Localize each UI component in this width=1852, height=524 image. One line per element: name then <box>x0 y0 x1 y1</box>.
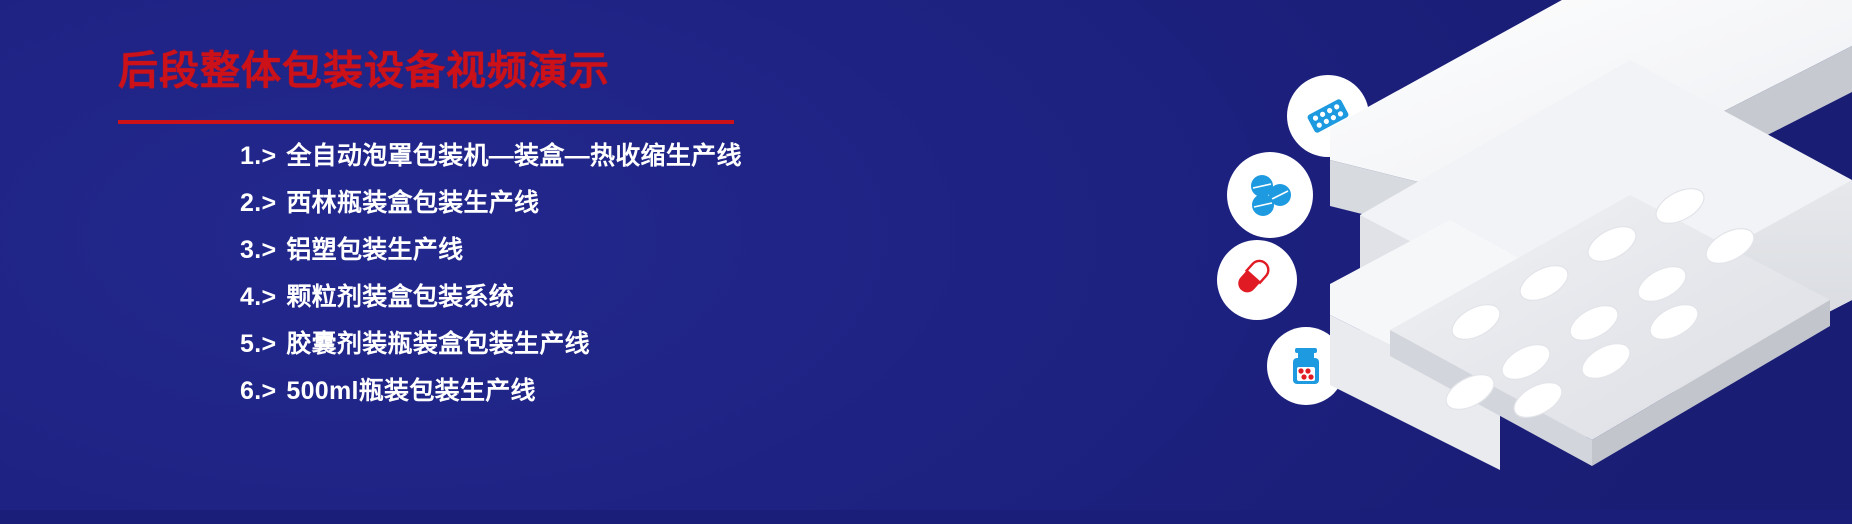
tablets-glyph <box>1241 166 1299 224</box>
promo-banner: 后段整体包装设备视频演示 1.> 全自动泡罩包装机—装盒—热收缩生产线 2.> … <box>0 0 1852 524</box>
banner-footer-strip <box>0 510 1852 524</box>
carton-illustration <box>1330 0 1852 524</box>
capsule-icon <box>1217 240 1297 320</box>
tablets-icon <box>1227 152 1313 238</box>
isometric-pill-carton <box>1330 0 1852 524</box>
pill-bottle-glyph <box>1281 341 1331 391</box>
capsule-glyph <box>1231 254 1283 306</box>
